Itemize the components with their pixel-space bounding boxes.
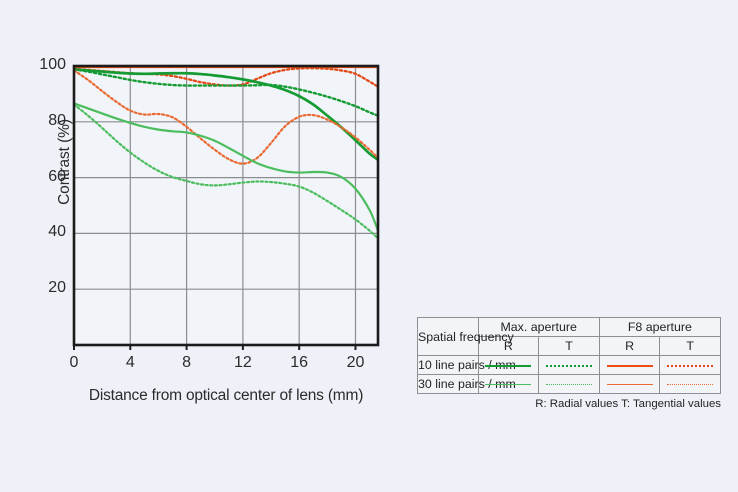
legend-header-row-aperture: Spatial frequency Max. aperture F8 apert…: [418, 318, 721, 337]
legend-panel: Spatial frequency Max. aperture F8 apert…: [417, 317, 721, 410]
legend-swatch-cell: [478, 375, 539, 394]
x-axis-tick-label: 8: [167, 354, 207, 372]
y-axis-title: Contrast (%): [56, 92, 80, 232]
x-axis-tick-label: 16: [279, 354, 319, 372]
legend-swatch-cell: [539, 356, 600, 375]
x-axis-tick-label: 0: [54, 354, 94, 372]
legend-swatch-cell: [539, 375, 600, 394]
legend-footnote: R: Radial values T: Tangential values: [417, 398, 721, 410]
legend-swatch-cell: [660, 356, 721, 375]
swatch-max-aperture-t-10: [546, 365, 592, 367]
legend-swatch-cell: [599, 356, 660, 375]
swatch-max-aperture-r-30: [485, 384, 531, 385]
swatch-f8-aperture-r-10: [607, 365, 653, 367]
y-axis-title-text: Contrast (%): [56, 119, 73, 205]
legend-swatch-cell: [660, 375, 721, 394]
x-axis-title: Distance from optical center of lens (mm…: [62, 387, 390, 405]
x-axis-tick-label: 20: [335, 354, 375, 372]
legend-swatch-cell: [478, 356, 539, 375]
swatch-max-aperture-t-30: [546, 384, 592, 385]
legend-dir-max-t: T: [539, 337, 600, 356]
swatch-f8-aperture-r-30: [607, 384, 653, 385]
swatch-f8-aperture-t-10: [667, 365, 713, 367]
swatch-max-aperture-r-10: [485, 365, 531, 367]
x-axis-tick-label: 12: [223, 354, 263, 372]
legend-dir-f8-r: R: [599, 337, 660, 356]
y-axis-tick-label: 20: [24, 279, 66, 297]
legend-row-10lp: 10 line pairs / mm: [418, 356, 721, 375]
legend-group-f8-aperture: F8 aperture: [599, 318, 720, 337]
plot-background: [74, 66, 378, 345]
chart-area: 20406080100 048121620 Contrast (%) Dista…: [0, 0, 400, 430]
legend-row-30lp: 30 line pairs / mm: [418, 375, 721, 394]
legend-row-label-10lp: 10 line pairs / mm: [418, 356, 479, 375]
x-axis-tick-label: 4: [110, 354, 150, 372]
mtf-chart-figure: 20406080100 048121620 Contrast (%) Dista…: [0, 0, 738, 492]
y-axis-tick-label: 100: [24, 56, 66, 74]
spatial-frequency-header: Spatial frequency: [418, 318, 479, 356]
legend-row-label-30lp: 30 line pairs / mm: [418, 375, 479, 394]
legend-swatch-cell: [599, 375, 660, 394]
legend-dir-f8-t: T: [660, 337, 721, 356]
swatch-f8-aperture-t-30: [667, 384, 713, 385]
legend-table: Spatial frequency Max. aperture F8 apert…: [417, 317, 721, 394]
